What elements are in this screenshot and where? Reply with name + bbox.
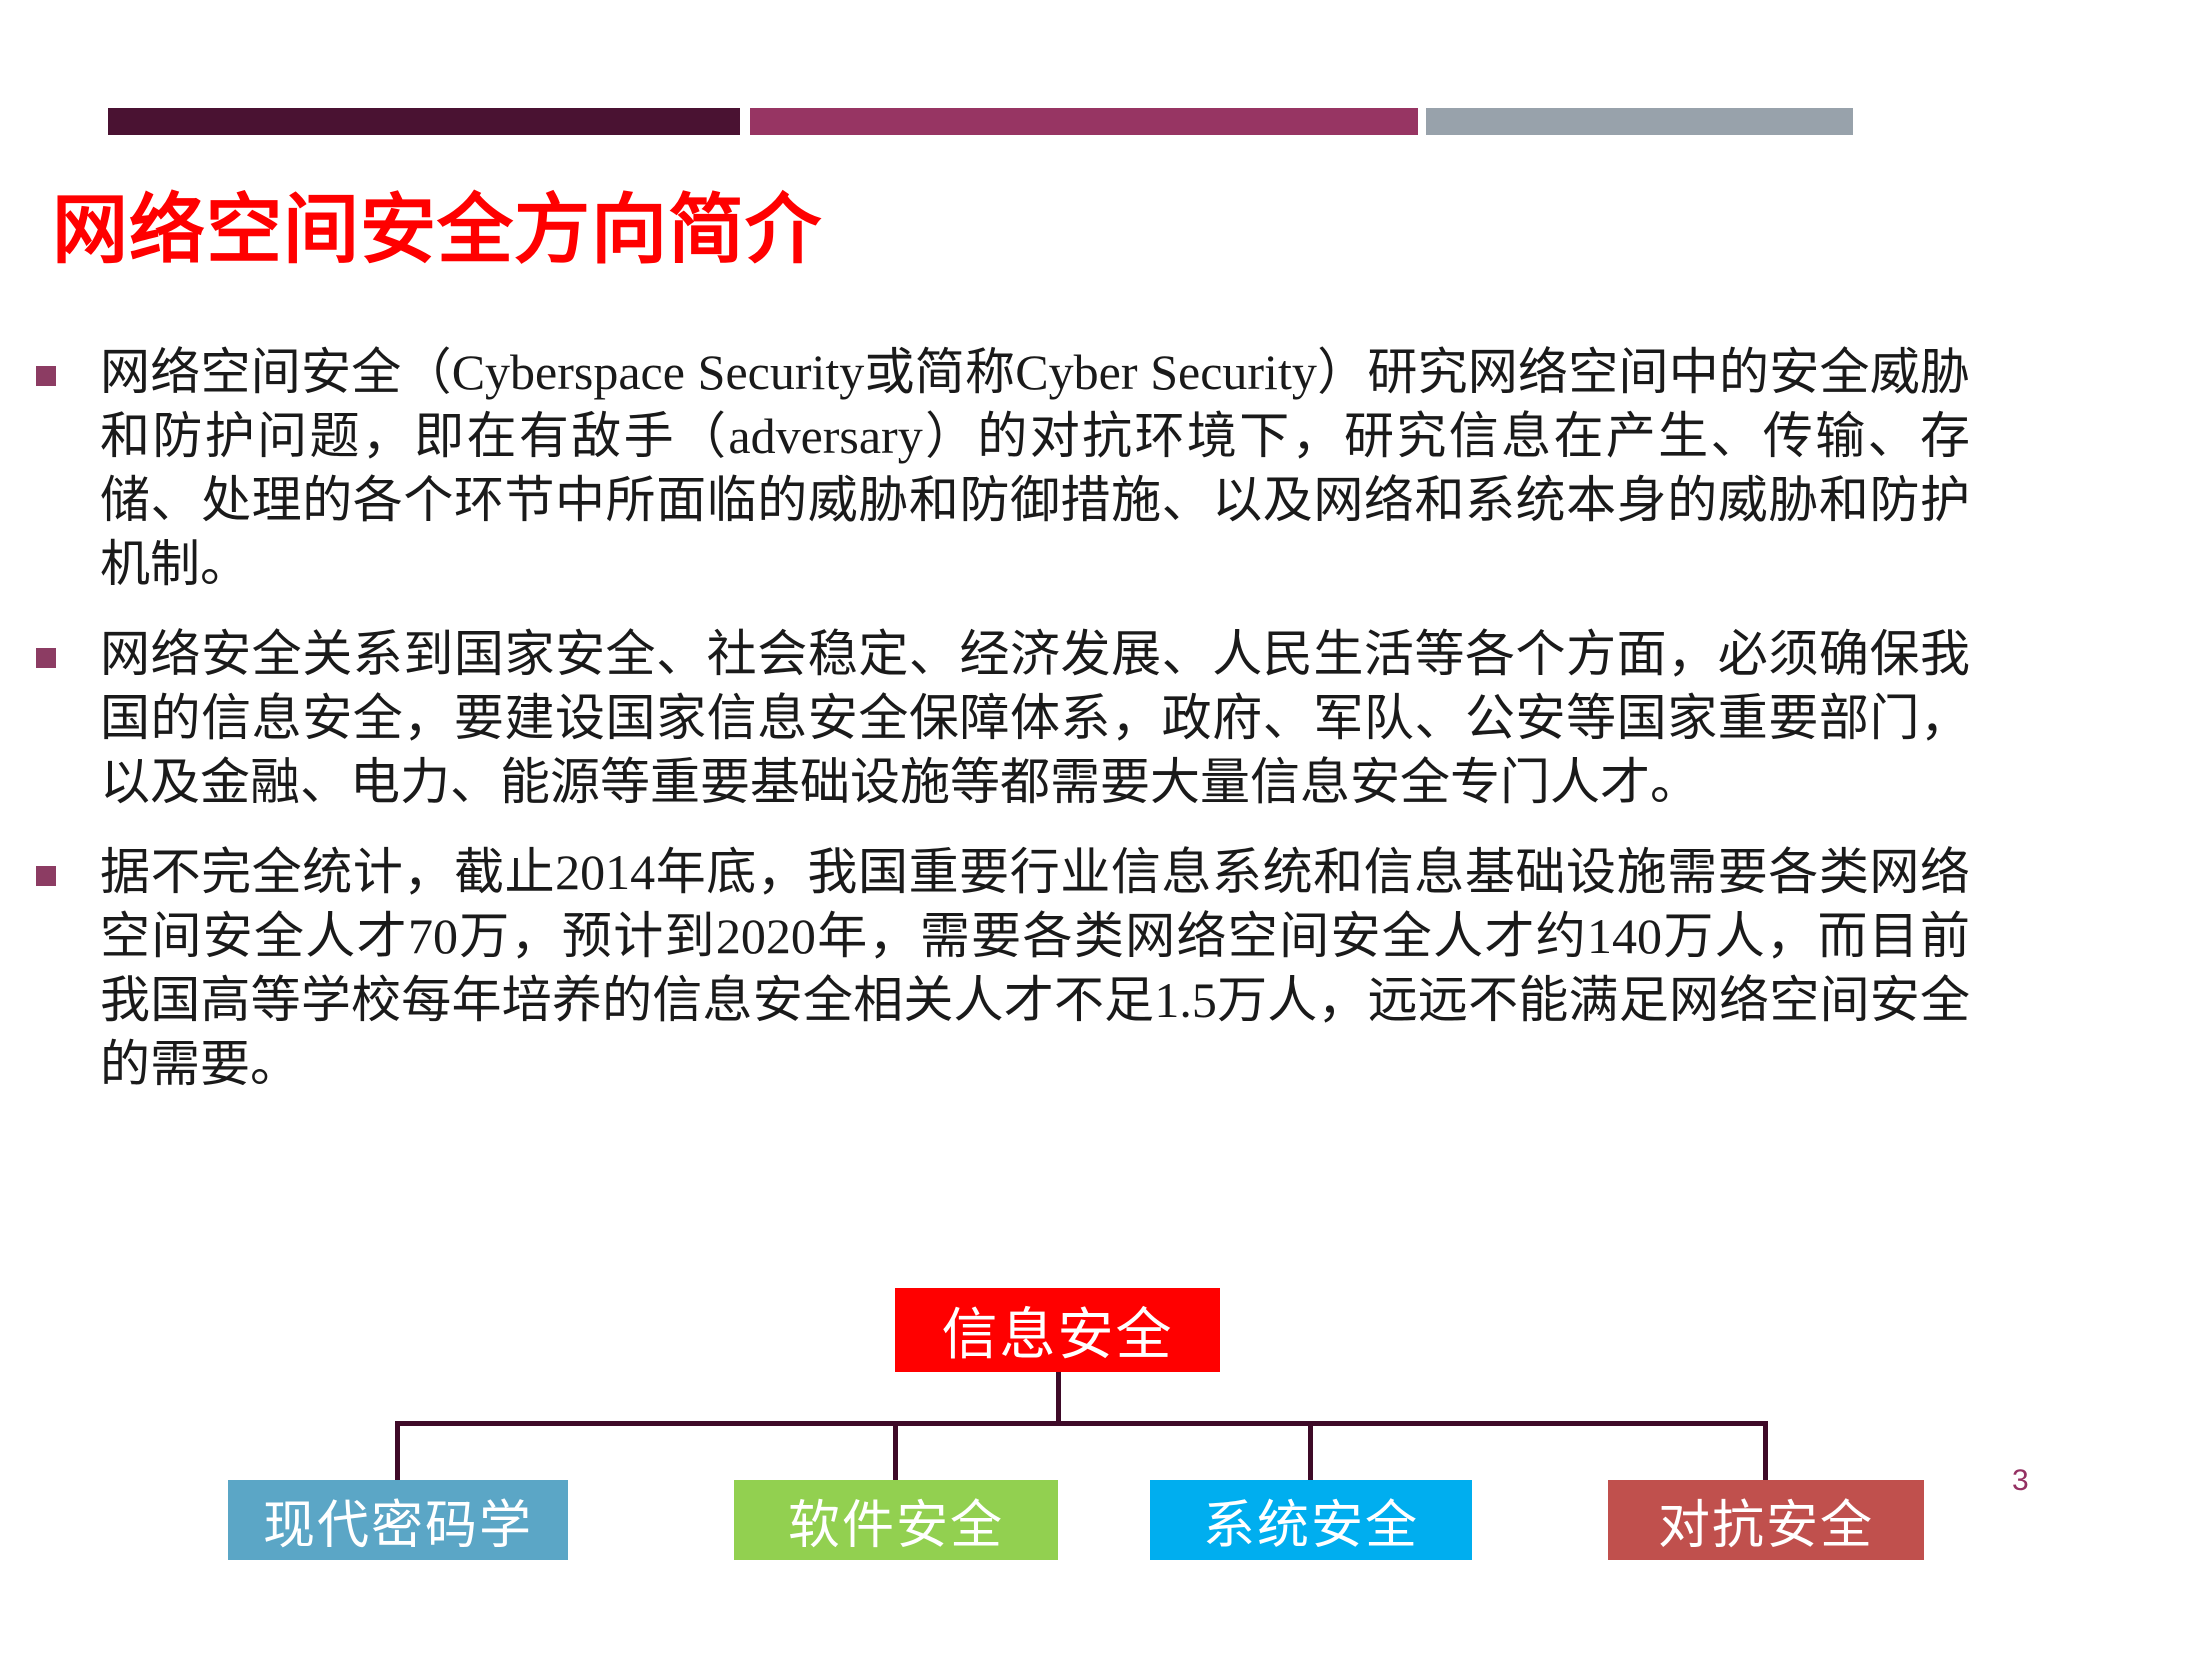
connector-branch-4 (1763, 1421, 1768, 1481)
list-item: 据不完全统计，截止2014年底，我国重要行业信息系统和信息基础设施需要各类网络空… (20, 840, 2020, 1096)
list-item: 网络空间安全（Cyberspace Security或简称Cyber Secur… (20, 340, 2020, 596)
decor-bar-dark-plum (108, 108, 740, 135)
connector-root-vertical (1056, 1372, 1061, 1424)
bullet-square-icon (36, 866, 56, 886)
list-item: 网络安全关系到国家安全、社会稳定、经济发展、人民生活等各个方面，必须确保我国的信… (20, 622, 2020, 814)
decor-bar-magenta (750, 108, 1418, 135)
bullet-square-icon (36, 648, 56, 668)
connector-branch-1 (395, 1421, 400, 1481)
bullet-text: 据不完全统计，截止2014年底，我国重要行业信息系统和信息基础设施需要各类网络空… (100, 840, 1970, 1096)
org-node-root: 信息安全 (895, 1288, 1220, 1372)
bullet-list: 网络空间安全（Cyberspace Security或简称Cyber Secur… (20, 340, 2020, 1122)
bullet-text: 网络安全关系到国家安全、社会稳定、经济发展、人民生活等各个方面，必须确保我国的信… (100, 622, 1970, 814)
page-title: 网络空间安全方向简介 (52, 190, 822, 274)
page-number: 3 (2012, 1464, 2029, 1498)
bullet-text: 网络空间安全（Cyberspace Security或简称Cyber Secur… (100, 340, 1970, 596)
connector-horizontal-bus (395, 1421, 1768, 1426)
org-node-modern-cryptography: 现代密码学 (228, 1480, 568, 1560)
org-node-software-security: 软件安全 (734, 1480, 1058, 1560)
connector-branch-2 (893, 1421, 898, 1481)
connector-branch-3 (1308, 1421, 1313, 1481)
org-node-adversarial-security: 对抗安全 (1608, 1480, 1924, 1560)
bullet-square-icon (36, 366, 56, 386)
decor-bar-gray (1426, 108, 1853, 135)
org-node-system-security: 系统安全 (1150, 1480, 1472, 1560)
